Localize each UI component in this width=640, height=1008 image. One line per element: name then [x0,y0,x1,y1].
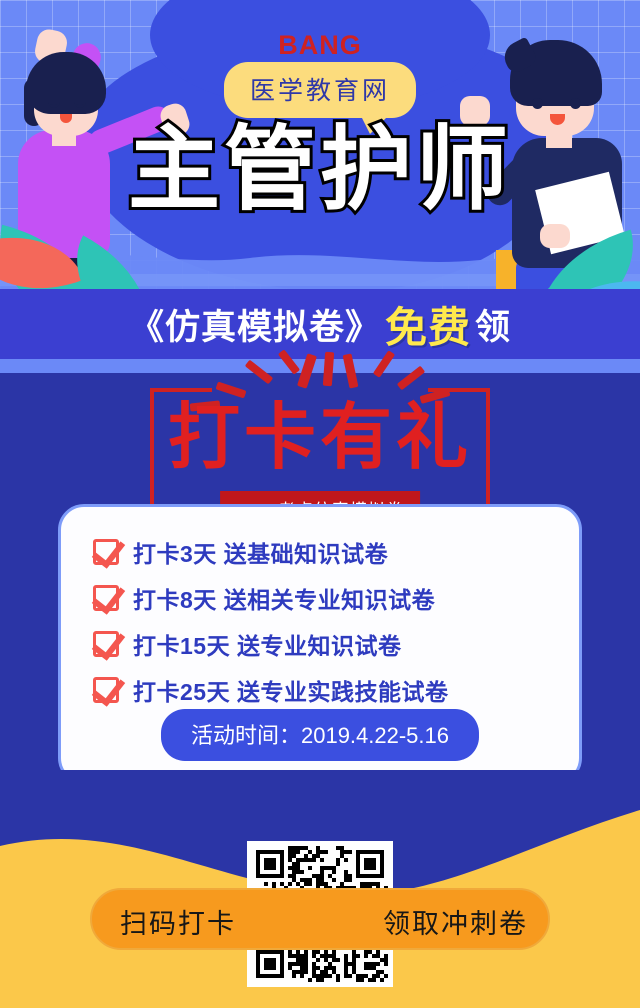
list-item-label: 打卡8天 送相关专业知识试卷 [133,581,435,615]
burst-label: BANG [0,30,640,61]
checkbox-checked-icon [93,631,119,657]
checkbox-checked-icon [93,539,119,565]
page-title: 主管护师 [0,124,640,216]
cta-right-label: 领取冲刺卷 [383,890,528,952]
ribbon-free-word: 免费 [385,294,471,355]
ribbon-claim-word: 领 [475,299,511,350]
scan-cta-button[interactable]: 扫码打卡 领取冲刺卷 [90,888,550,950]
headline: 打卡有礼 [0,402,640,474]
list-item: 打卡25天 送专业实践技能试卷 [93,667,579,713]
list-item-label: 打卡25天 送专业实践技能试卷 [133,673,448,707]
ribbon-text: 《仿真模拟卷》 免费 领 [0,289,640,359]
list-item: 打卡8天 送相关专业知识试卷 [93,575,579,621]
checkbox-checked-icon [93,677,119,703]
ribbon-book-title: 《仿真模拟卷》 [129,299,381,350]
offer-card: 打卡3天 送基础知识试卷 打卡8天 送相关专业知识试卷 打卡15天 送专业知识试… [58,504,582,784]
list-item-label: 打卡3天 送基础知识试卷 [133,535,388,569]
brand-badge: 医学教育网 [224,62,416,118]
brand-badge-label: 医学教育网 [250,77,390,105]
event-date-pill: 活动时间：2019.4.22-5.16 [161,709,479,761]
checkbox-checked-icon [93,585,119,611]
list-item: 打卡3天 送基础知识试卷 [93,529,579,575]
brand-badge-bubble: 医学教育网 [224,62,416,118]
promo-poster: 医学教育网 主管护师 《仿真模拟卷》 免费 领 BANG 打卡有礼 20 [0,0,640,1008]
cta-left-label: 扫码打卡 [120,890,236,952]
list-item: 打卡15天 送专业知识试卷 [93,621,579,667]
offer-card-body: 打卡3天 送基础知识试卷 打卡8天 送相关专业知识试卷 打卡15天 送专业知识试… [61,507,579,713]
list-item-label: 打卡15天 送专业知识试卷 [133,627,401,661]
